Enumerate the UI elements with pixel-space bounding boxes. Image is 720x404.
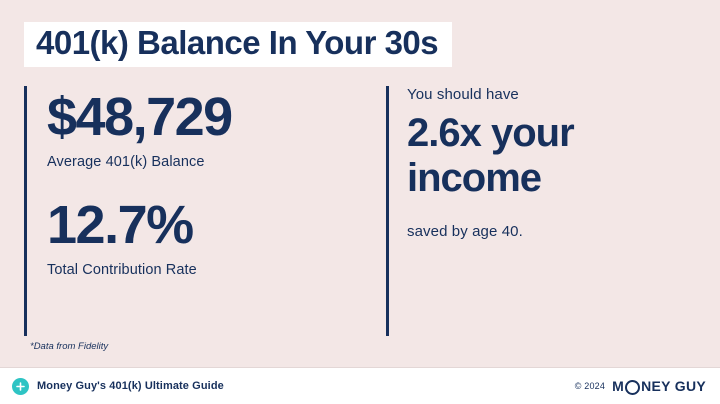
footer-right-group: © 2024 M NEY GUY: [575, 368, 706, 404]
average-balance-label: Average 401(k) Balance: [47, 154, 364, 170]
moneyguy-logo: M NEY GUY: [612, 378, 706, 394]
contribution-rate-value: 12.7%: [47, 198, 364, 252]
stats-columns: $48,729 Average 401(k) Balance 12.7% Tot…: [24, 86, 696, 336]
contribution-rate-stat: 12.7% Total Contribution Rate: [47, 198, 364, 278]
average-balance-value: $48,729: [47, 90, 364, 144]
recommendation-outro: saved by age 40.: [407, 223, 696, 240]
plus-circle-icon: [12, 378, 29, 395]
recommendation-intro: You should have: [407, 86, 696, 103]
average-balance-stat: $48,729 Average 401(k) Balance: [47, 90, 364, 170]
brand-o-circle-icon: [625, 380, 640, 395]
footer-bar: Money Guy's 401(k) Ultimate Guide © 2024…: [0, 367, 720, 404]
recommendation-headline: 2.6x your income: [407, 111, 696, 201]
recommendation-headline-line-1: 2.6x your: [407, 111, 574, 155]
title-banner: 401(k) Balance In Your 30s: [24, 22, 452, 67]
brand-text-part-3: GUY: [675, 378, 706, 394]
left-stats-column: $48,729 Average 401(k) Balance 12.7% Tot…: [24, 86, 364, 336]
page-title: 401(k) Balance In Your 30s: [36, 26, 438, 61]
footer-left-group: Money Guy's 401(k) Ultimate Guide: [12, 368, 224, 404]
contribution-rate-label: Total Contribution Rate: [47, 262, 364, 278]
copyright-text: © 2024: [575, 381, 605, 391]
recommendation-headline-line-2: income: [407, 156, 696, 201]
brand-text-part-1: M: [612, 378, 624, 394]
infographic-canvas: 401(k) Balance In Your 30s $48,729 Avera…: [0, 0, 720, 404]
right-recommendation-column: You should have 2.6x your income saved b…: [386, 86, 696, 336]
brand-text-part-2: NEY: [641, 378, 671, 394]
source-note: *Data from Fidelity: [30, 341, 108, 352]
footer-guide-title: Money Guy's 401(k) Ultimate Guide: [37, 380, 224, 392]
